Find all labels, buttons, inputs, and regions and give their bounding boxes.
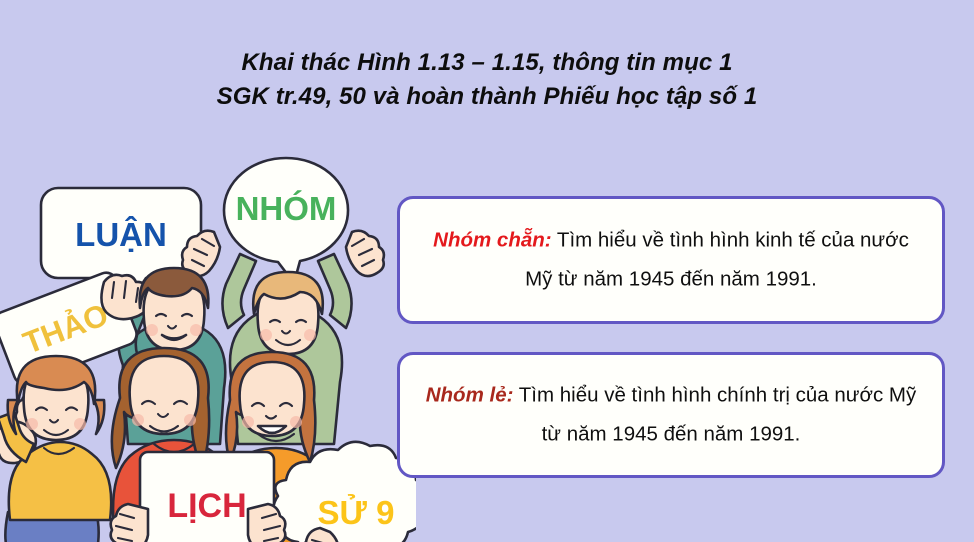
slide-canvas: .ol { stroke:#2b2b3a; stroke-width:2.6; … xyxy=(0,0,974,542)
sign-nhom-label: NHÓM xyxy=(236,190,337,227)
odd-group-text: Tìm hiểu về tình hình chính trị của nước… xyxy=(513,384,916,446)
head-boy-blonde xyxy=(253,272,323,354)
head-boy-brown xyxy=(140,268,209,350)
even-group-tag: Nhóm chẵn: xyxy=(433,229,551,252)
slide-title: Khai thác Hình 1.13 – 1.15, thông tin mụ… xyxy=(0,46,974,114)
task-box-even-group: Nhóm chẵn: Tìm hiểu về tình hình kinh tế… xyxy=(397,196,945,324)
task-box-odd-group: Nhóm lẻ: Tìm hiểu về tình hình chính trị… xyxy=(397,352,945,478)
sign-lich-label: LỊCH xyxy=(167,487,246,525)
even-group-text: Tìm hiểu về tình hình kinh tế của nước M… xyxy=(525,229,909,291)
students-group-illustration: .ol { stroke:#2b2b3a; stroke-width:2.6; … xyxy=(0,132,416,542)
odd-group-tag: Nhóm lẻ: xyxy=(426,384,514,407)
sign-luan-label: LUẬN xyxy=(75,216,167,253)
title-line-1: Khai thác Hình 1.13 – 1.15, thông tin mụ… xyxy=(0,46,974,80)
title-line-2: SGK tr.49, 50 và hoàn thành Phiếu học tậ… xyxy=(0,80,974,114)
sign-su9-label: SỬ 9 xyxy=(318,494,395,531)
head-girl-orange xyxy=(226,352,315,462)
task-box-odd-group-content: Nhóm lẻ: Tìm hiểu về tình hình chính trị… xyxy=(400,376,942,455)
task-box-even-group-content: Nhóm chẵn: Tìm hiểu về tình hình kinh tế… xyxy=(400,221,942,300)
